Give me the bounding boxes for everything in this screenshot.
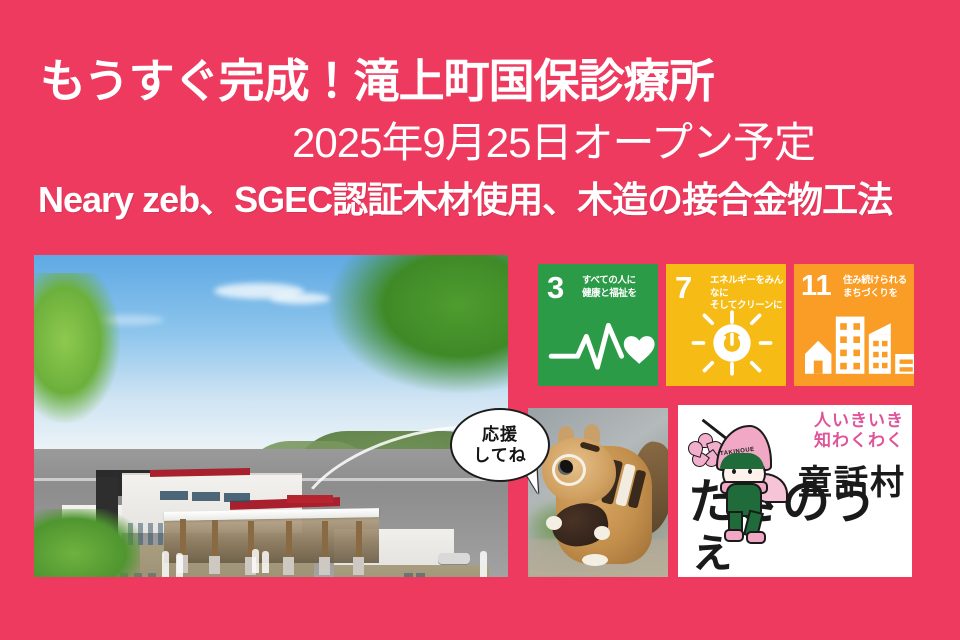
clinic-rendering-photo (34, 255, 508, 577)
sdg-badge-number: 3 (547, 272, 564, 303)
fairy-boot (724, 529, 744, 542)
sdg-badge-3[interactable]: 3 すべての人に 健康と福祉を (538, 264, 658, 386)
column-base (209, 556, 220, 574)
window (148, 573, 156, 577)
mascot-tagline-line1: 人いきいき (814, 411, 904, 431)
cloud-icon (270, 293, 330, 304)
page-title-line1: もうすぐ完成！滝上町国保診療所 (40, 58, 714, 104)
entrance-canopy-underside (164, 517, 379, 563)
mascot-tagline: 人いきいき 知わくわく (814, 411, 904, 450)
car-icon (438, 553, 470, 564)
speech-bubble: 応援 してね (450, 408, 550, 482)
sdg-label-line1: 住み続けられる (843, 275, 914, 288)
sdg-label-line2: まちづくりを (843, 288, 914, 301)
sdg-badge-row: 3 すべての人に 健康と福祉を 7 エネルギーをみんなに そしてクリーンに (538, 264, 914, 386)
red-roof-eave (287, 495, 333, 503)
column-base (283, 557, 294, 575)
sdg-badge-7[interactable]: 7 エネルギーをみんなに そしてクリーンに (666, 264, 786, 386)
takinoue-mascot-logo[interactable]: 人いきいき 知わくわく 童話村 たきのうぇ TAKINOUE (678, 405, 912, 577)
chipmunk-paw (546, 516, 562, 530)
fairy-eye (732, 469, 736, 474)
window (160, 491, 188, 500)
chipmunk-foot (582, 554, 608, 566)
poster-canvas: もうすぐ完成！滝上町国保診療所 2025年9月25日オープン予定 Neary z… (0, 0, 960, 640)
column-base (319, 557, 330, 575)
fairy-eye (748, 469, 752, 474)
fairy-hair (720, 453, 764, 469)
fairy-boot (746, 531, 766, 544)
window (404, 573, 413, 577)
mascot-tagline-line2: 知わくわく (814, 431, 904, 451)
person-figure (162, 551, 169, 577)
sdg-badge-label: 住み続けられる まちづくりを (843, 275, 914, 300)
sdg-label-line1: すべての人に (582, 275, 656, 288)
speech-bubble-line2: してね (473, 445, 527, 466)
chipmunk-eye (558, 460, 573, 475)
bush-foliage (34, 509, 140, 577)
window (224, 493, 250, 502)
speech-bubble-line1: 応援 (482, 424, 518, 445)
sdg-label-line1: エネルギーをみんなに (710, 275, 784, 300)
heartbeat-icon (538, 310, 658, 376)
sdg-badge-label: すべての人に 健康と福祉を (582, 275, 656, 300)
sdg-badge-11[interactable]: 11 住み続けられる まちづくりを (794, 264, 914, 386)
window (416, 573, 425, 577)
window (192, 492, 220, 501)
sun-power-icon (666, 310, 786, 376)
tree-foliage (326, 255, 508, 395)
sdg-label-line2: 健康と福祉を (582, 288, 656, 301)
sdg-badge-number: 11 (801, 272, 832, 301)
person-figure (252, 549, 259, 573)
column-base (353, 557, 364, 575)
person-figure (480, 551, 487, 577)
fairy-mascot-illustration: TAKINOUE (690, 419, 790, 529)
person-figure (262, 551, 269, 573)
sdg-badge-number: 7 (675, 272, 692, 303)
sdg-badge-label: エネルギーをみんなに そしてクリーンに (710, 275, 784, 313)
person-figure (176, 553, 183, 577)
chipmunk-paw (594, 526, 610, 540)
tree-foliage (34, 273, 120, 423)
window (158, 523, 163, 545)
page-title-line2: 2025年9月25日オープン予定 (292, 122, 815, 164)
page-subtitle-line3: Neary zeb、SGEC認証木材使用、木造の接合金物工法 (38, 182, 892, 218)
window (148, 523, 153, 545)
city-buildings-icon (794, 310, 914, 376)
chipmunk-photo (528, 408, 668, 577)
